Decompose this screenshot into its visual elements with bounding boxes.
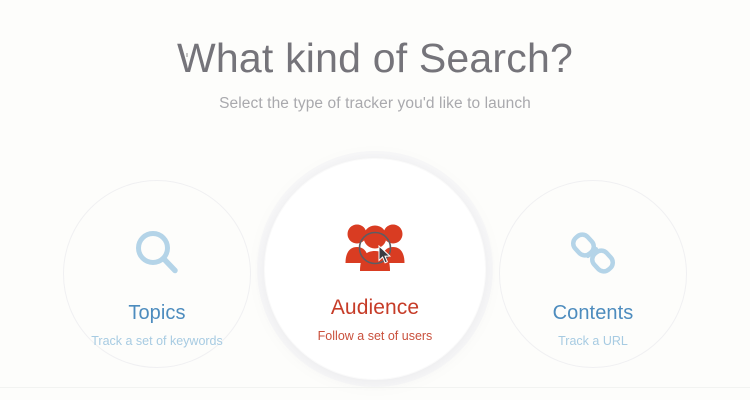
- page-header: What kind of Search? Select the type of …: [0, 0, 750, 113]
- card-description: Track a URL: [558, 335, 628, 348]
- search-type-card-topics[interactable]: Topics Track a set of keywords: [63, 180, 251, 368]
- card-description: Track a set of keywords: [91, 335, 223, 348]
- page-subtitle: Select the type of tracker you'd like to…: [0, 82, 750, 113]
- chain-link-icon: [569, 225, 617, 281]
- card-description: Follow a set of users: [318, 330, 433, 343]
- card-title: Audience: [331, 297, 419, 318]
- search-type-options: Topics Track a set of keywords: [0, 152, 750, 400]
- card-title: Topics: [128, 303, 185, 323]
- search-type-chooser-screen: What kind of Search? Select the type of …: [0, 0, 750, 400]
- stray-pixel-artifact: [186, 53, 188, 57]
- search-type-card-audience[interactable]: Audience Follow a set of users: [264, 158, 486, 380]
- search-type-card-contents[interactable]: Contents Track a URL: [499, 180, 687, 368]
- page-title: What kind of Search?: [0, 0, 750, 82]
- magnifier-icon: [134, 225, 180, 281]
- bottom-divider: [0, 387, 750, 388]
- card-title: Contents: [553, 303, 634, 323]
- group-of-users-icon: [344, 215, 406, 277]
